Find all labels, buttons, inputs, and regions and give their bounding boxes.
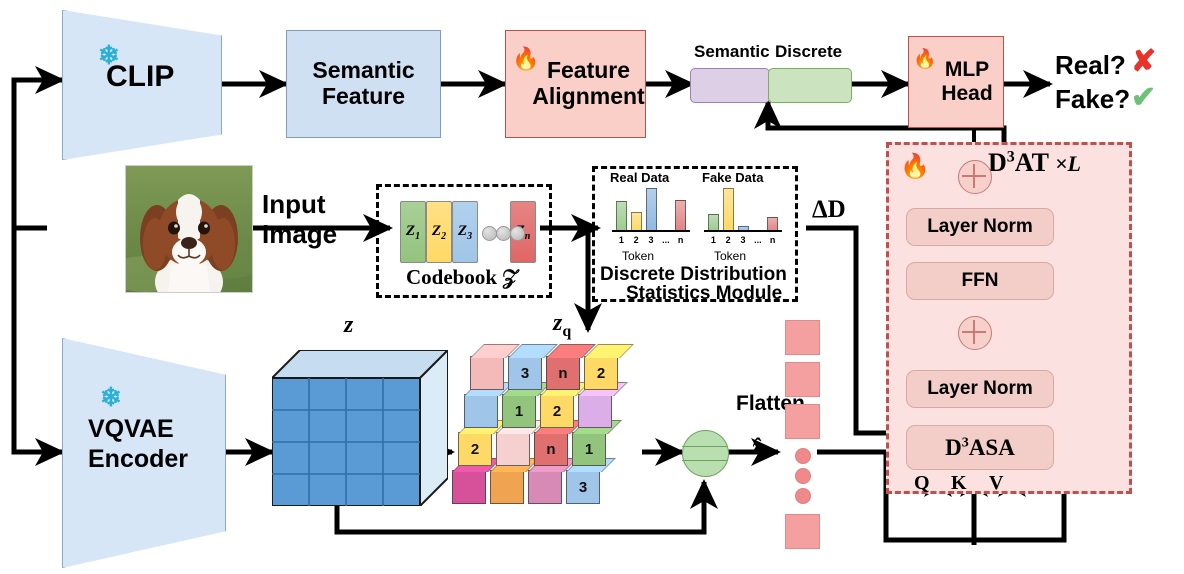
delta-d-label: ΔD (812, 196, 846, 224)
codebook-entry-label: Z2 (432, 223, 446, 242)
tick-2: 2 (629, 235, 644, 245)
quantized-cube (464, 394, 498, 428)
quantized-cube: 3 (508, 356, 542, 390)
d3at-title: D3AT ×L (988, 148, 1081, 178)
tick-2: 2 (721, 235, 736, 245)
value-label: V (989, 472, 1003, 495)
layer-norm-top-label: Layer Norm (927, 216, 1033, 238)
input-image-label: InputImage (262, 190, 337, 250)
token-square (785, 404, 820, 439)
fake-data-chart: 123...n (704, 188, 782, 240)
codebook-entry-label: Z1 (406, 223, 420, 242)
quantized-latent-grid: 3n2122n13 (452, 340, 642, 510)
fake-data-chart-title: Fake Data (702, 170, 763, 185)
bar-1 (708, 214, 719, 232)
tick-1: 1 (614, 235, 629, 245)
codebook-ellipsis-dot (496, 226, 511, 241)
semantic-feature-block[interactable]: SemanticFeature (286, 30, 441, 138)
z-label: z (344, 312, 353, 339)
fire-icon: 🔥 (913, 49, 937, 70)
discrete-token-caption: Discrete (775, 42, 842, 62)
semantic-token-caption: Semantic (694, 42, 770, 62)
semantic-feature-label: SemanticFeature (312, 58, 414, 110)
tick-3: 3 (736, 235, 751, 245)
semantic-token-bar[interactable] (690, 68, 770, 103)
flatten-node-line (682, 446, 727, 461)
codebook-entry-label: Z3 (458, 223, 472, 242)
architecture-diagram: ❄ CLIP SemanticFeature 🔥 FeatureAlignmen… (0, 0, 1184, 574)
token-square (785, 362, 820, 397)
quantized-cube: 2 (540, 394, 574, 428)
latent-feature-cube (272, 350, 448, 506)
token-square (785, 514, 820, 549)
bar-2 (723, 188, 734, 232)
quantized-cube (490, 470, 524, 504)
feature-alignment-block[interactable]: 🔥 FeatureAlignment (505, 30, 646, 138)
d3asa-block[interactable]: D3ASA (906, 425, 1054, 470)
fire-icon: 🔥 (512, 47, 539, 72)
tick-3: 3 (644, 235, 659, 245)
token-ellipsis-dot (795, 488, 811, 504)
z-hat-label: ẑ (752, 434, 761, 460)
quantized-cube: 2 (584, 356, 618, 390)
codebook-entry-3[interactable]: Z3 (452, 201, 478, 263)
codebook-caption: Codebook 𝒵 (406, 265, 518, 290)
codebook-entry-2[interactable]: Z2 (426, 201, 452, 263)
bar-n (675, 200, 686, 232)
ddsm-title-line2: Statistics Module (626, 283, 782, 305)
fire-icon: 🔥 (900, 152, 930, 181)
tick-...: ... (750, 235, 765, 245)
token-ellipsis-dot (795, 448, 811, 464)
layer-norm-bottom-block[interactable]: Layer Norm (906, 370, 1054, 408)
quantized-cube: 3 (566, 470, 600, 504)
codebook-strips: Z1Z2Z3Zn (400, 201, 530, 263)
quantized-cube: 2 (458, 432, 492, 466)
ffn-label: FFN (962, 270, 999, 292)
bar-2 (631, 212, 642, 232)
quantized-cube (470, 356, 504, 390)
real-data-chart-title: Real Data (610, 170, 669, 185)
residual-add-top (958, 160, 992, 194)
flattened-token-column (785, 320, 825, 540)
zq-label: zq (553, 310, 571, 341)
tick-n: n (673, 235, 688, 245)
quantized-cube: n (546, 356, 580, 390)
snowflake-icon: ❄ (100, 382, 122, 413)
bar-1 (616, 201, 627, 232)
quantized-cube (452, 470, 486, 504)
bar-3 (646, 188, 657, 232)
codebook-ellipsis-dot (482, 226, 497, 241)
codebook-entry-1[interactable]: Z1 (400, 201, 426, 263)
vqvae-label: VQVAEEncoder (88, 414, 188, 474)
fake-check-icon: ✔ (1131, 80, 1156, 115)
real-label: Real? (1055, 50, 1126, 81)
tick-1: 1 (706, 235, 721, 245)
residual-add-bottom (958, 316, 992, 350)
real-chart-xlabel: Token (622, 249, 654, 263)
quantized-cube (528, 470, 562, 504)
token-square (785, 320, 820, 355)
fake-label: Fake? (1055, 84, 1130, 115)
tick-n: n (765, 235, 780, 245)
mlp-head-block[interactable]: 🔥 MLPHead (908, 36, 1004, 128)
fake-chart-xlabel: Token (714, 249, 746, 263)
key-label: K (951, 472, 967, 495)
clip-label: CLIP (106, 60, 174, 94)
ffn-block[interactable]: FFN (906, 262, 1054, 300)
quantized-cube: 1 (572, 432, 606, 466)
d3asa-label: D3ASA (945, 435, 1015, 461)
layer-norm-bottom-label: Layer Norm (927, 378, 1033, 400)
x-axis (612, 230, 690, 232)
real-cross-icon: ✘ (1131, 44, 1156, 79)
real-data-chart: 123...n (612, 188, 690, 240)
x-axis (704, 230, 782, 232)
token-ellipsis-dot (795, 468, 811, 484)
codebook-ellipsis-dot (510, 226, 525, 241)
quantized-cube (496, 432, 530, 466)
quantized-cube: n (534, 432, 568, 466)
tick-...: ... (658, 235, 673, 245)
input-image-thumbnail (125, 165, 253, 293)
discrete-token-bar[interactable] (768, 68, 852, 103)
quantized-cube: 1 (502, 394, 536, 428)
quantized-cube (578, 394, 612, 428)
layer-norm-top-block[interactable]: Layer Norm (906, 208, 1054, 246)
query-label: Q (914, 472, 930, 495)
